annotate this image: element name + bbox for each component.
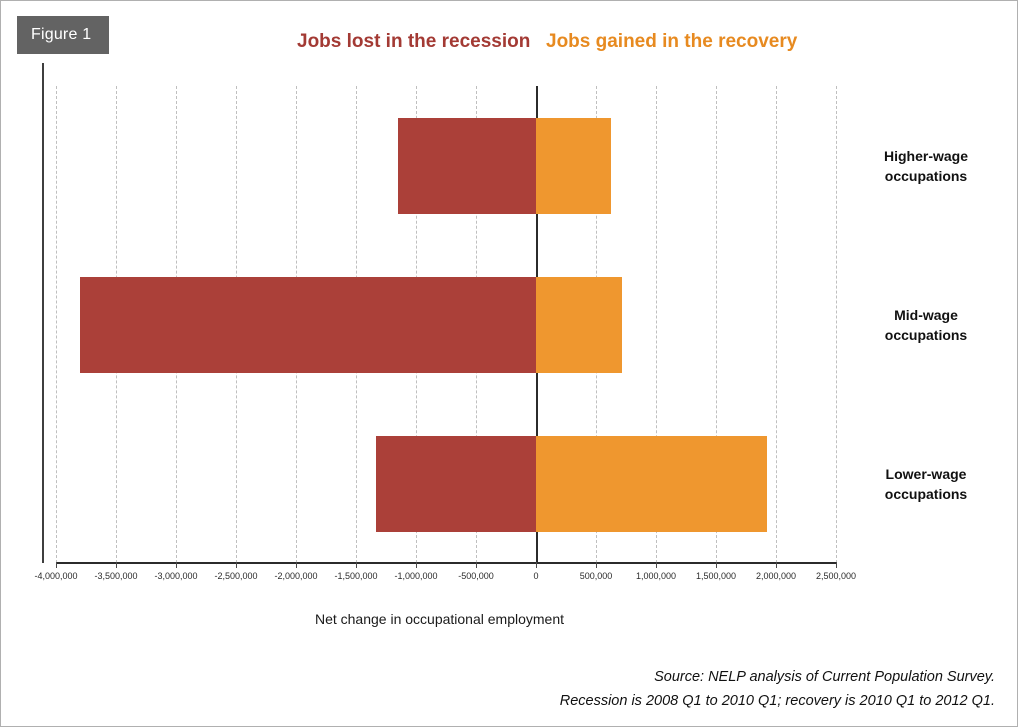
x-axis-tick-label: -4,000,000 [34, 571, 77, 581]
x-axis-tick-label: 500,000 [580, 571, 613, 581]
title-jobs-gained: Jobs gained in the recovery [546, 31, 797, 53]
x-axis-line [56, 562, 837, 564]
gridline [836, 86, 837, 563]
x-axis-tick [356, 562, 357, 568]
category-label-line: occupations [846, 325, 1006, 345]
category-label-line: Mid-wage [846, 305, 1006, 325]
x-axis-tick-label: -3,500,000 [94, 571, 137, 581]
gridline [56, 86, 57, 563]
x-axis-tick-label: 0 [533, 571, 538, 581]
chart-titles: Jobs lost in the recession Jobs gained i… [1, 31, 1018, 61]
x-axis-tick-label: 2,500,000 [816, 571, 856, 581]
x-axis-tick-label: -2,000,000 [274, 571, 317, 581]
x-axis-title: Net change in occupational employment [42, 611, 837, 627]
figure-badge: Figure 1 [17, 16, 109, 54]
category-label-line: Lower-wage [846, 464, 1006, 484]
bar-loss [80, 277, 536, 373]
x-axis-tick [596, 562, 597, 568]
source-line-2: Recession is 2008 Q1 to 2010 Q1; recover… [355, 689, 995, 713]
category-label: Lower-wageoccupations [846, 464, 1006, 504]
bar-gain [536, 436, 767, 532]
source-note: Source: NELP analysis of Current Populat… [355, 665, 995, 713]
x-axis-tick-label: 1,500,000 [696, 571, 736, 581]
x-axis-tick [236, 562, 237, 568]
x-axis-tick [476, 562, 477, 568]
x-axis-tick-label: -1,500,000 [334, 571, 377, 581]
x-axis-tick [176, 562, 177, 568]
figure-container: Figure 1 Jobs lost in the recession Jobs… [0, 0, 1018, 727]
plot-area [56, 86, 836, 563]
bar-gain [536, 118, 611, 214]
bar-loss [376, 436, 536, 532]
bar-loss [398, 118, 536, 214]
gridline [776, 86, 777, 563]
x-axis-tick-label: -1,000,000 [394, 571, 437, 581]
title-jobs-lost: Jobs lost in the recession [297, 31, 530, 53]
category-label-line: occupations [846, 166, 1006, 186]
x-axis-tick-label: 2,000,000 [756, 571, 796, 581]
category-label: Mid-wageoccupations [846, 305, 1006, 345]
bar-gain [536, 277, 622, 373]
x-axis-tick-label: 1,000,000 [636, 571, 676, 581]
category-label-line: Higher-wage [846, 146, 1006, 166]
x-axis-tick [116, 562, 117, 568]
x-axis-tick [656, 562, 657, 568]
category-label-line: occupations [846, 484, 1006, 504]
x-axis-tick [296, 562, 297, 568]
x-axis-tick-label: -3,000,000 [154, 571, 197, 581]
x-axis-tick [56, 562, 57, 568]
category-label: Higher-wageoccupations [846, 146, 1006, 186]
x-axis-tick [776, 562, 777, 568]
x-axis-tick [416, 562, 417, 568]
x-axis-tick-label: -500,000 [458, 571, 494, 581]
source-line-1: Source: NELP analysis of Current Populat… [355, 665, 995, 689]
x-axis-tick [836, 562, 837, 568]
x-axis-tick-label: -2,500,000 [214, 571, 257, 581]
x-axis-tick [716, 562, 717, 568]
x-axis-tick [536, 562, 537, 568]
